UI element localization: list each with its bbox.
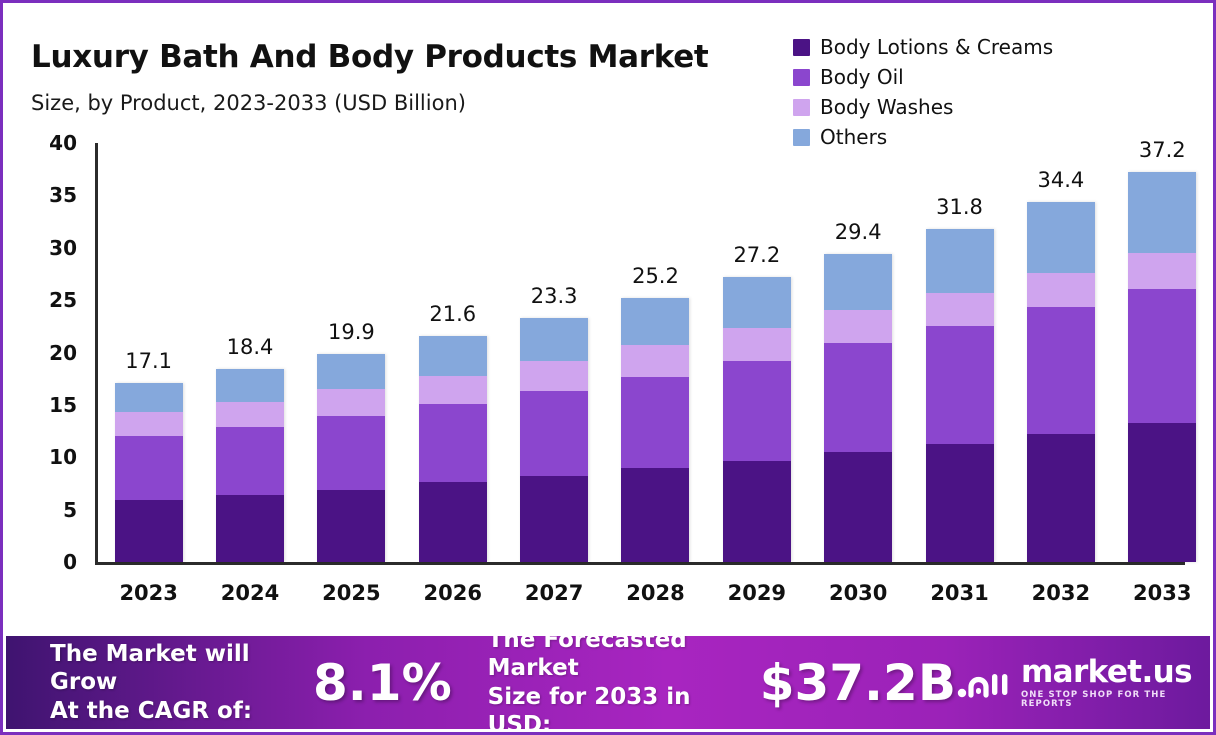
stacked-bar[interactable]	[216, 369, 284, 562]
bar-segment[interactable]	[419, 376, 487, 404]
x-axis-tick-label: 2033	[1128, 581, 1196, 605]
bar-value-label: 29.4	[835, 220, 882, 244]
bar-group: 17.118.419.921.623.325.227.229.431.834.4…	[98, 143, 1213, 562]
bar-segment[interactable]	[115, 412, 183, 436]
chart-infographic: Luxury Bath And Body Products Market Siz…	[0, 0, 1216, 735]
legend-swatch-icon	[793, 69, 810, 86]
bar-segment[interactable]	[520, 361, 588, 391]
forecast-caption: The Forecasted Market Size for 2033 in U…	[488, 636, 732, 729]
bar-column[interactable]: 19.9	[317, 143, 385, 562]
x-axis-tick-label: 2027	[520, 581, 588, 605]
stacked-bar[interactable]	[1027, 202, 1095, 562]
bar-segment[interactable]	[115, 383, 183, 412]
bar-value-label: 31.8	[936, 195, 983, 219]
bar-segment[interactable]	[317, 490, 385, 562]
bar-segment[interactable]	[520, 391, 588, 476]
stacked-bar[interactable]	[317, 354, 385, 562]
y-axis-tick-label: 5	[31, 498, 77, 522]
legend-item[interactable]: Body Washes	[793, 97, 1053, 117]
x-axis-tick-label: 2026	[419, 581, 487, 605]
legend-item-label: Body Lotions & Creams	[820, 37, 1053, 57]
bar-segment[interactable]	[419, 482, 487, 562]
bar-value-label: 23.3	[531, 284, 578, 308]
legend-swatch-icon	[793, 99, 810, 116]
bar-segment[interactable]	[216, 402, 284, 427]
bar-segment[interactable]	[419, 404, 487, 483]
bar-segment[interactable]	[1128, 253, 1196, 289]
y-axis-tick-label: 30	[31, 236, 77, 260]
bar-column[interactable]: 23.3	[520, 143, 588, 562]
bar-segment[interactable]	[824, 310, 892, 344]
stacked-bar[interactable]	[520, 318, 588, 562]
bar-segment[interactable]	[824, 254, 892, 310]
legend-item-label: Body Washes	[820, 97, 953, 117]
bar-column[interactable]: 17.1	[115, 143, 183, 562]
bar-segment[interactable]	[1027, 202, 1095, 273]
market-us-logo[interactable]: market.us ONE STOP SHOP FOR THE REPORTS	[956, 657, 1192, 708]
bar-column[interactable]: 29.4	[824, 143, 892, 562]
bar-segment[interactable]	[1128, 423, 1196, 562]
x-axis-tick-label: 2032	[1027, 581, 1095, 605]
x-axis-tick-label: 2028	[621, 581, 689, 605]
x-axis-tick-label: 2030	[824, 581, 892, 605]
bar-segment[interactable]	[317, 354, 385, 390]
bar-segment[interactable]	[824, 343, 892, 452]
stacked-bar[interactable]	[621, 298, 689, 562]
bar-segment[interactable]	[115, 436, 183, 500]
bar-segment[interactable]	[621, 468, 689, 562]
bar-segment[interactable]	[216, 495, 284, 562]
bar-segment[interactable]	[1027, 307, 1095, 434]
bar-value-label: 17.1	[125, 349, 172, 373]
legend-item-label: Body Oil	[820, 67, 904, 87]
bar-segment[interactable]	[1128, 289, 1196, 423]
stacked-bar[interactable]	[419, 336, 487, 562]
bar-segment[interactable]	[926, 326, 994, 443]
y-axis-tick-label: 10	[31, 445, 77, 469]
x-axis-tick-label: 2029	[723, 581, 791, 605]
bar-segment[interactable]	[115, 500, 183, 562]
y-axis-tick-label: 0	[31, 550, 77, 574]
cagr-value: 8.1%	[313, 658, 452, 708]
bar-value-label: 27.2	[733, 243, 780, 267]
bar-segment[interactable]	[419, 336, 487, 376]
bar-segment[interactable]	[723, 461, 791, 562]
bar-value-label: 34.4	[1038, 168, 1085, 192]
stacked-bar[interactable]	[1128, 172, 1196, 562]
x-axis-tick-label: 2024	[216, 581, 284, 605]
bar-segment[interactable]	[723, 361, 791, 462]
stacked-bar[interactable]	[115, 383, 183, 562]
bar-segment[interactable]	[1128, 172, 1196, 253]
legend-item[interactable]: Body Oil	[793, 67, 1053, 87]
bar-value-label: 25.2	[632, 264, 679, 288]
y-axis-tick-label: 35	[31, 183, 77, 207]
bar-column[interactable]: 31.8	[926, 143, 994, 562]
bar-value-label: 37.2	[1139, 138, 1186, 162]
bar-segment[interactable]	[621, 377, 689, 468]
bar-value-label: 21.6	[429, 302, 476, 326]
bar-segment[interactable]	[621, 298, 689, 345]
cagr-caption: The Market will Grow At the CAGR of:	[50, 640, 275, 724]
bar-value-label: 19.9	[328, 320, 375, 344]
bar-segment[interactable]	[723, 328, 791, 360]
bar-segment[interactable]	[520, 476, 588, 562]
bar-segment[interactable]	[926, 229, 994, 293]
x-axis-tick-label: 2023	[115, 581, 183, 605]
y-axis-tick-label: 15	[31, 393, 77, 417]
legend-item[interactable]: Body Lotions & Creams	[793, 37, 1053, 57]
bar-segment[interactable]	[926, 293, 994, 327]
x-axis-tick-label: 2025	[317, 581, 385, 605]
y-axis-labels: 4035302520151050	[31, 143, 77, 562]
x-axis-tick-label: 2031	[926, 581, 994, 605]
bar-column[interactable]: 25.2	[621, 143, 689, 562]
y-axis-tick-label: 40	[31, 131, 77, 155]
bar-value-label: 18.4	[227, 335, 274, 359]
bar-segment[interactable]	[1027, 273, 1095, 308]
bar-column[interactable]: 21.6	[419, 143, 487, 562]
page-title: Luxury Bath And Body Products Market	[31, 39, 708, 75]
bar-segment[interactable]	[216, 427, 284, 495]
footer-banner: The Market will Grow At the CAGR of: 8.1…	[6, 636, 1210, 729]
bar-segment[interactable]	[1027, 434, 1095, 562]
logo-tagline: ONE STOP SHOP FOR THE REPORTS	[1021, 691, 1192, 708]
bar-column[interactable]: 34.4	[1027, 143, 1095, 562]
bar-segment[interactable]	[317, 389, 385, 416]
bar-column[interactable]: 18.4	[216, 143, 284, 562]
stacked-bar[interactable]	[824, 254, 892, 562]
bar-segment[interactable]	[216, 369, 284, 401]
bar-column[interactable]: 27.2	[723, 143, 791, 562]
forecast-value: $37.2B	[760, 658, 956, 708]
bar-segment[interactable]	[824, 452, 892, 562]
legend-swatch-icon	[793, 39, 810, 56]
y-axis-tick-label: 20	[31, 341, 77, 365]
stacked-bar[interactable]	[926, 229, 994, 562]
bar-segment[interactable]	[621, 345, 689, 376]
bar-segment[interactable]	[723, 277, 791, 328]
chart-legend: Body Lotions & CreamsBody OilBody Washes…	[793, 37, 1053, 147]
logo-name: market.us	[1021, 657, 1192, 688]
bar-column[interactable]: 37.2	[1128, 143, 1196, 562]
bar-segment[interactable]	[926, 444, 994, 562]
bar-segment[interactable]	[317, 416, 385, 489]
logo-mark-icon	[956, 663, 1012, 703]
x-axis-line	[95, 562, 1185, 565]
stacked-bar[interactable]	[723, 277, 791, 562]
page-subtitle: Size, by Product, 2023-2033 (USD Billion…	[31, 91, 466, 115]
x-axis-labels: 2023202420252026202720282029203020312032…	[98, 581, 1213, 605]
bar-segment[interactable]	[520, 318, 588, 361]
y-axis-tick-label: 25	[31, 288, 77, 312]
